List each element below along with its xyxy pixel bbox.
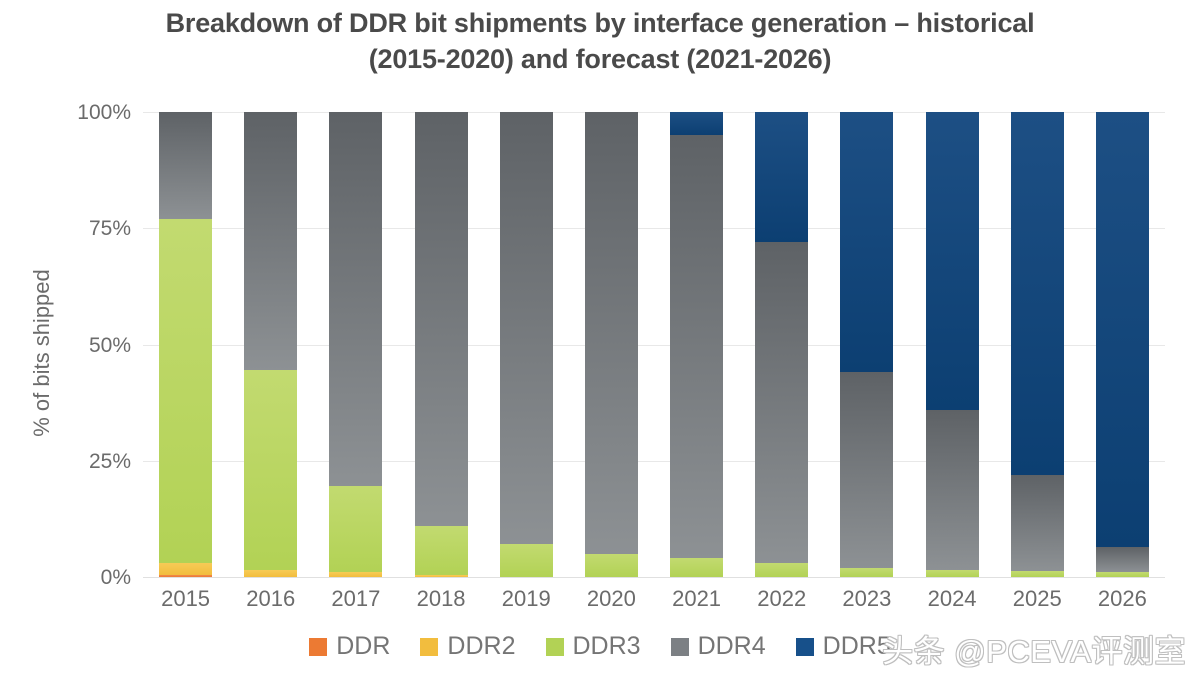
segment-DDR4-2022[interactable] — [755, 242, 808, 563]
segment-DDR4-2024[interactable] — [926, 410, 979, 570]
y-tick-100%: 100% — [43, 102, 131, 123]
segment-DDR2-2017[interactable] — [329, 572, 382, 577]
watermark-text: 头条 @PCEVA评测室 — [882, 626, 1186, 671]
legend-label-DDR2: DDR2 — [447, 634, 515, 659]
x-tick-2021: 2021 — [654, 588, 739, 610]
segment-DDR3-2024[interactable] — [926, 570, 979, 577]
x-tick-2025: 2025 — [995, 588, 1080, 610]
x-tick-2022: 2022 — [739, 588, 824, 610]
legend-label-DDR5: DDR5 — [823, 634, 891, 659]
legend-swatch-DDR4-icon — [671, 638, 689, 656]
segment-DDR5-2026[interactable] — [1096, 112, 1149, 547]
segment-DDR2-2016[interactable] — [244, 570, 297, 577]
chart-title: Breakdown of DDR bit shipments by interf… — [0, 6, 1200, 77]
segment-DDR3-2017[interactable] — [329, 486, 382, 572]
segment-DDR3-2020[interactable] — [585, 554, 638, 577]
bar-2024[interactable] — [926, 112, 979, 577]
segment-DDR3-2025[interactable] — [1011, 571, 1064, 577]
segment-DDR5-2025[interactable] — [1011, 112, 1064, 475]
plot-area — [143, 112, 1165, 577]
bar-2015[interactable] — [159, 112, 212, 577]
segment-DDR4-2016[interactable] — [244, 112, 297, 370]
legend-swatch-DDR3-icon — [546, 638, 564, 656]
legend-swatch-DDR-icon — [309, 638, 327, 656]
segment-DDR2-2015[interactable] — [159, 563, 212, 575]
segment-DDR4-2020[interactable] — [585, 112, 638, 554]
segment-DDR3-2015[interactable] — [159, 219, 212, 563]
legend-item-DDR4[interactable]: DDR4 — [671, 634, 766, 659]
segment-DDR5-2022[interactable] — [755, 112, 808, 242]
segment-DDR4-2021[interactable] — [670, 135, 723, 558]
segment-DDR4-2025[interactable] — [1011, 475, 1064, 572]
legend-swatch-DDR2-icon — [420, 638, 438, 656]
gridline-0% — [143, 577, 1165, 578]
x-tick-2018: 2018 — [399, 588, 484, 610]
bar-2016[interactable] — [244, 112, 297, 577]
segment-DDR5-2021[interactable] — [670, 112, 723, 135]
bar-2026[interactable] — [1096, 112, 1149, 577]
segment-DDR3-2019[interactable] — [500, 544, 553, 577]
segment-DDR2-2018[interactable] — [415, 575, 468, 577]
bar-2020[interactable] — [585, 112, 638, 577]
segment-DDR3-2016[interactable] — [244, 370, 297, 570]
bar-2019[interactable] — [500, 112, 553, 577]
legend-item-DDR2[interactable]: DDR2 — [420, 634, 515, 659]
segment-DDR3-2026[interactable] — [1096, 572, 1149, 577]
x-tick-2020: 2020 — [569, 588, 654, 610]
segment-DDR4-2015[interactable] — [159, 112, 212, 219]
legend-label-DDR4: DDR4 — [698, 634, 766, 659]
legend-label-DDR: DDR — [336, 634, 390, 659]
legend-item-DDR3[interactable]: DDR3 — [546, 634, 641, 659]
x-tick-2015: 2015 — [143, 588, 228, 610]
segment-DDR3-2018[interactable] — [415, 526, 468, 575]
x-tick-2026: 2026 — [1080, 588, 1165, 610]
y-tick-75%: 75% — [43, 218, 131, 239]
legend-item-DDR5[interactable]: DDR5 — [796, 634, 891, 659]
x-tick-2016: 2016 — [228, 588, 313, 610]
bar-2022[interactable] — [755, 112, 808, 577]
segment-DDR4-2019[interactable] — [500, 112, 553, 544]
bar-2017[interactable] — [329, 112, 382, 577]
segment-DDR-2015[interactable] — [159, 575, 212, 577]
segment-DDR3-2023[interactable] — [840, 568, 893, 577]
segment-DDR3-2021[interactable] — [670, 558, 723, 577]
segment-DDR3-2022[interactable] — [755, 563, 808, 577]
y-tick-50%: 50% — [43, 335, 131, 356]
segment-DDR5-2024[interactable] — [926, 112, 979, 410]
legend-label-DDR3: DDR3 — [573, 634, 641, 659]
x-tick-2017: 2017 — [313, 588, 398, 610]
segment-DDR5-2023[interactable] — [840, 112, 893, 372]
segment-DDR4-2023[interactable] — [840, 372, 893, 567]
y-tick-0%: 0% — [43, 567, 131, 588]
bar-2018[interactable] — [415, 112, 468, 577]
legend-item-DDR[interactable]: DDR — [309, 634, 390, 659]
x-tick-2023: 2023 — [824, 588, 909, 610]
x-tick-2019: 2019 — [484, 588, 569, 610]
legend-swatch-DDR5-icon — [796, 638, 814, 656]
segment-DDR4-2026[interactable] — [1096, 547, 1149, 573]
bar-2021[interactable] — [670, 112, 723, 577]
x-tick-2024: 2024 — [910, 588, 995, 610]
segment-DDR4-2018[interactable] — [415, 112, 468, 526]
bar-2025[interactable] — [1011, 112, 1064, 577]
y-tick-25%: 25% — [43, 451, 131, 472]
bar-2023[interactable] — [840, 112, 893, 577]
segment-DDR4-2017[interactable] — [329, 112, 382, 486]
